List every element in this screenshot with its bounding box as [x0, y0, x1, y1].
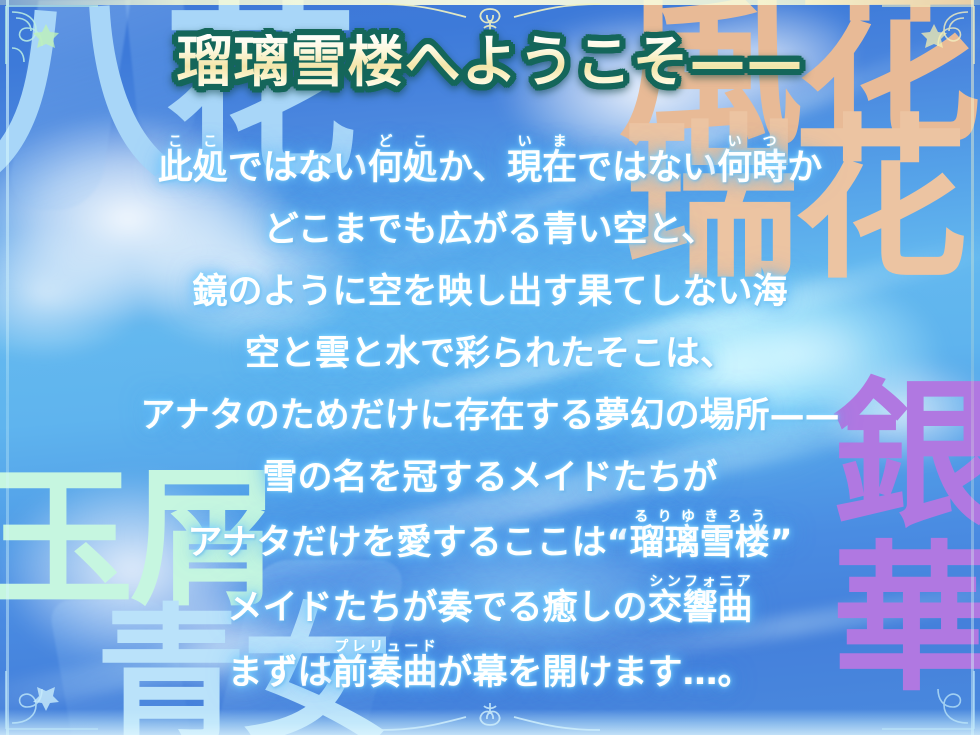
bottom-center-ornament-icon	[380, 699, 600, 733]
ruby-group: 此処ここ	[158, 148, 228, 188]
ruby-base: 現在	[507, 148, 577, 188]
ruby-annotation: プレリュード	[332, 639, 437, 655]
ruby-annotation: るりゆきろう	[630, 509, 770, 525]
intro-line: アナタのためだけに存在する夢幻の場所——	[0, 385, 980, 447]
ruby-group: 前奏曲プレリュード	[332, 653, 437, 693]
title-block: 瑠璃雪楼へようこそ——	[0, 34, 980, 93]
text-run: どこまでも広がる青い空と、	[264, 210, 717, 250]
intro-line: 此処ここではない何処どこか、現在いまではない何時いつか	[0, 134, 980, 199]
text-run: ではない	[577, 148, 717, 188]
frame-border-bottom	[0, 709, 980, 735]
ruby-group: 何時いつ	[717, 148, 787, 188]
frame-border-top	[0, 0, 980, 5]
text-run: ではない	[228, 148, 368, 188]
ruby-base: 此処	[158, 148, 228, 188]
intro-line: 鏡のように空を映し出す果てしない海	[0, 261, 980, 323]
ruby-annotation: ここ	[158, 134, 228, 150]
text-run: アナタのためだけに存在する夢幻の場所——	[140, 396, 839, 436]
text-run: か	[787, 148, 822, 188]
ruby-group: 現在いま	[507, 148, 577, 188]
text-run: まずは	[227, 653, 332, 693]
intro-line: アナタだけを愛するここは“瑠璃雪楼るりゆきろう”	[0, 509, 980, 574]
ruby-annotation: いつ	[717, 134, 787, 150]
text-run: ”	[770, 523, 793, 563]
text-run: メイドたちが奏でる癒しの	[227, 588, 647, 628]
page-title: 瑠璃雪楼へようこそ——	[177, 34, 804, 93]
intro-line: 空と雲と水で彩られたそこは、	[0, 323, 980, 385]
text-run: アナタだけを愛するここは“	[187, 523, 629, 563]
intro-line: メイドたちが奏でる癒しの交響曲シンフォニア	[0, 574, 980, 639]
intro-line: まずは前奏曲プレリュードが幕を開けます…。	[0, 639, 980, 704]
ruby-group: 瑠璃雪楼るりゆきろう	[630, 523, 770, 563]
text-run: 空と雲と水で彩られたそこは、	[245, 334, 735, 374]
ruby-group: 交響曲シンフォニア	[648, 588, 753, 628]
ruby-base: 瑠璃雪楼	[630, 523, 770, 563]
text-run: 鏡のように空を映し出す果てしない海	[192, 272, 787, 312]
text-run: か、	[438, 148, 507, 188]
ruby-annotation: シンフォニア	[648, 574, 753, 590]
ruby-annotation: どこ	[368, 134, 438, 150]
ruby-group: 何処どこ	[368, 148, 438, 188]
ruby-base: 何時	[717, 148, 787, 188]
ruby-base: 何処	[368, 148, 438, 188]
ruby-base: 前奏曲	[332, 653, 437, 693]
intro-text-block: 此処ここではない何処どこか、現在いまではない何時いつか どこまでも広がる青い空と…	[0, 134, 980, 704]
text-run: が幕を開けます…。	[438, 653, 753, 693]
ruby-base: 交響曲	[648, 588, 753, 628]
text-run: 雪の名を冠するメイドたちが	[262, 458, 717, 498]
ruby-annotation: いま	[507, 134, 577, 150]
intro-line: 雪の名を冠するメイドたちが	[0, 447, 980, 509]
intro-line: どこまでも広がる青い空と、	[0, 199, 980, 261]
title-screen: 八花 玉屑 青女 風花 瑞花 銀華	[0, 0, 980, 735]
